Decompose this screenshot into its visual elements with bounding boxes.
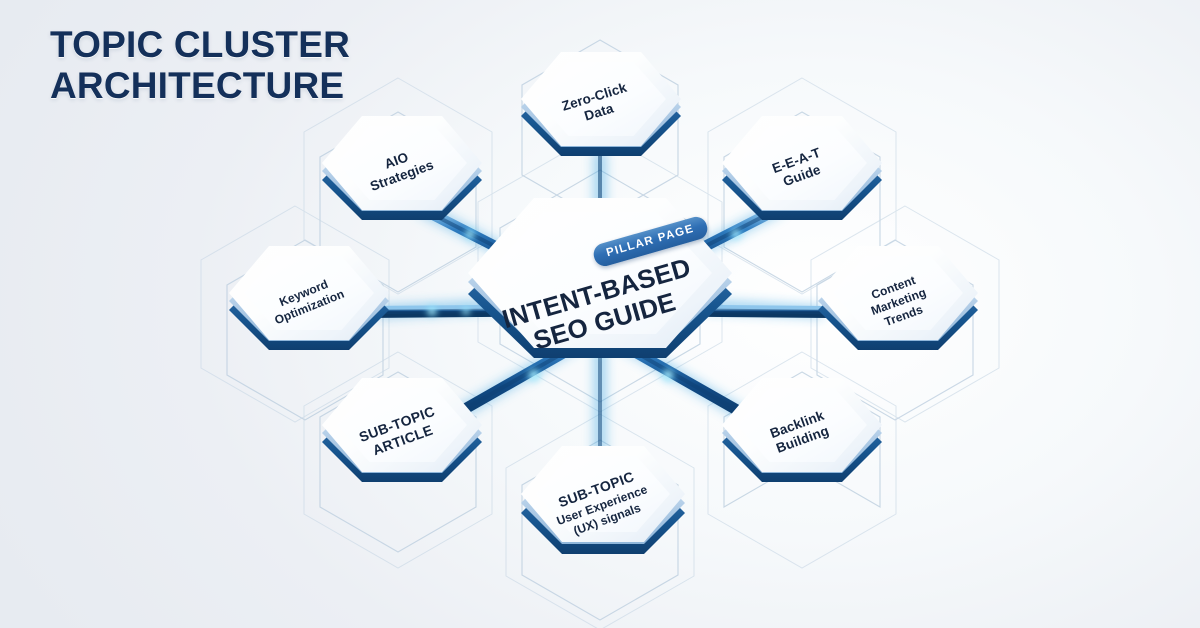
node-aio-strategies[interactable]: AIO Strategies <box>322 114 482 238</box>
node-keyword-optimization[interactable]: Keyword Optimization <box>229 244 389 368</box>
node-content-marketing-trends[interactable]: Content Marketing Trends <box>818 244 978 368</box>
node-sub-topic-article[interactable]: SUB-TOPIC ARTICLE <box>322 376 482 500</box>
node-e-e-a-t-guide[interactable]: E-E-A-T Guide <box>722 114 882 238</box>
node-zero-click-data[interactable]: Zero-Click Data <box>521 50 681 174</box>
pillar-page-node[interactable]: PILLAR PAGE INTENT-BASED SEO GUIDE <box>468 196 732 386</box>
infographic-canvas: TOPIC CLUSTER ARCHITECTURE <box>0 0 1200 628</box>
node-sub-topic-ux-signals[interactable]: SUB-TOPIC User Experience (UX) signals <box>521 444 685 572</box>
node-backlink-building[interactable]: Backlink Building <box>722 376 882 500</box>
